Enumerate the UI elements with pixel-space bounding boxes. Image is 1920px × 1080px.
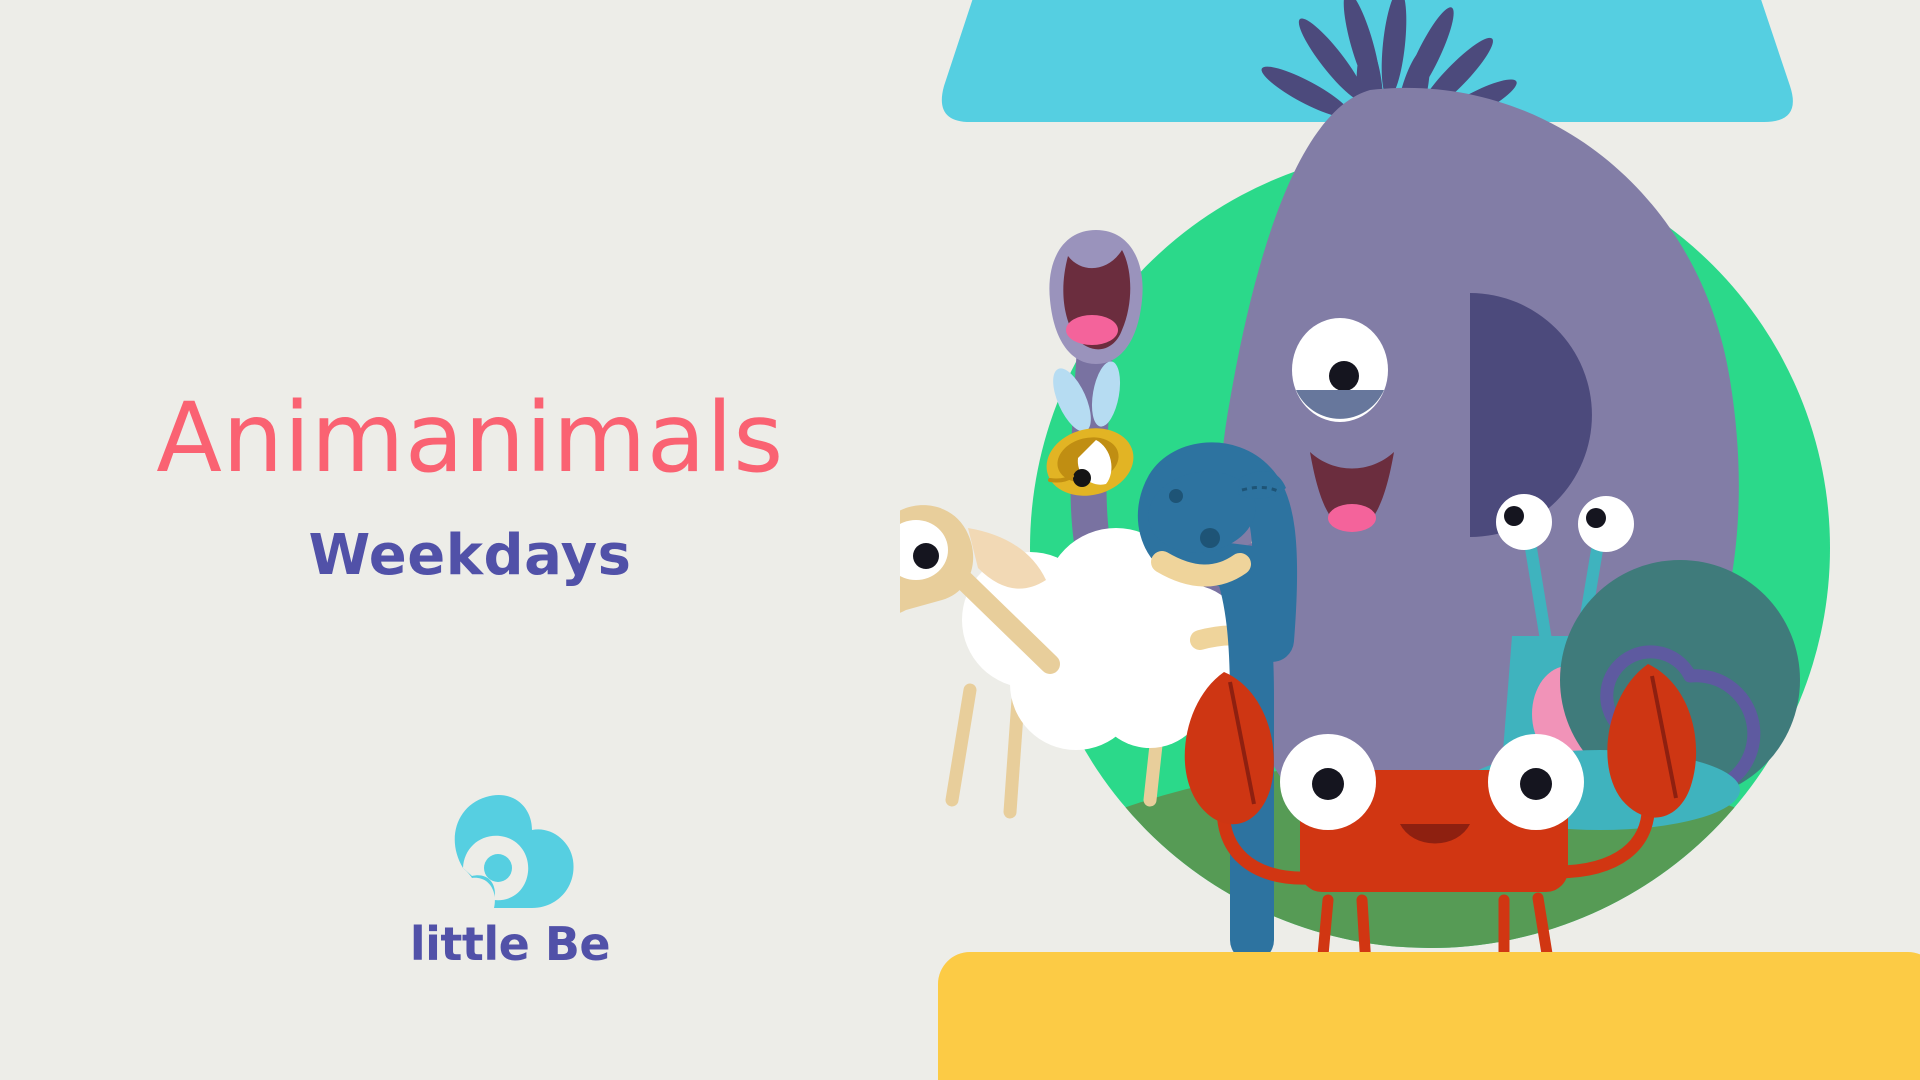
schedule-subtitle: Weekdays [0, 528, 940, 584]
dino-nostril [1169, 489, 1183, 503]
dino-eye [1200, 528, 1220, 548]
animanimals-illustration [900, 0, 1920, 1080]
snail-eye [1496, 494, 1552, 550]
snail-eye [1578, 496, 1634, 552]
page-title: Animanimals [0, 390, 940, 486]
promo-slide: Animanimals Weekdays little Be [0, 0, 1920, 1080]
title-block: Animanimals Weekdays [0, 390, 940, 584]
elephant-tongue [1328, 504, 1376, 532]
little-be-logo[interactable]: little Be [400, 790, 620, 967]
little-be-bird-cloud-icon [440, 790, 580, 915]
logo-wordmark: little Be [400, 921, 620, 967]
bottom-banner-shape [938, 952, 1920, 1080]
